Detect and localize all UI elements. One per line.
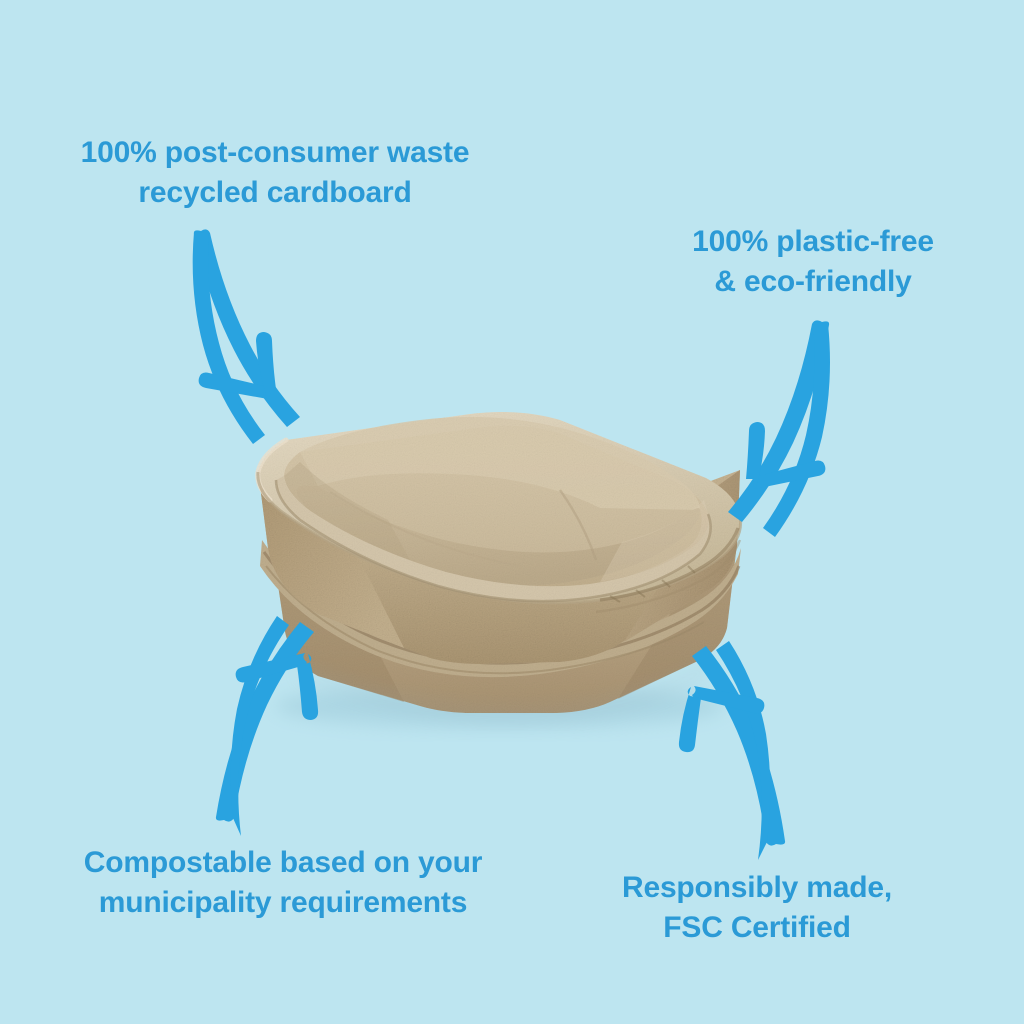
callout-fsc-certified-line-2: FSC Certified [622, 908, 892, 948]
callout-plastic-free-line-2: & eco-friendly [692, 262, 934, 302]
infographic-canvas: 100% post-consumer waste recycled cardbo… [0, 0, 1024, 1024]
callout-fsc-certified-line-1: Responsibly made, [622, 868, 892, 908]
callout-plastic-free: 100% plastic-free & eco-friendly [692, 222, 934, 301]
callout-recycled-cardboard-line-1: 100% post-consumer waste [81, 133, 470, 173]
callout-plastic-free-line-1: 100% plastic-free [692, 222, 934, 262]
callout-recycled-cardboard-line-2: recycled cardboard [81, 173, 470, 213]
callout-compostable-line-2: municipality requirements [84, 883, 482, 923]
callout-fsc-certified: Responsibly made, FSC Certified [622, 868, 892, 947]
callout-compostable-line-1: Compostable based on your [84, 843, 482, 883]
callout-compostable: Compostable based on your municipality r… [84, 843, 482, 922]
callout-recycled-cardboard: 100% post-consumer waste recycled cardbo… [81, 133, 470, 212]
